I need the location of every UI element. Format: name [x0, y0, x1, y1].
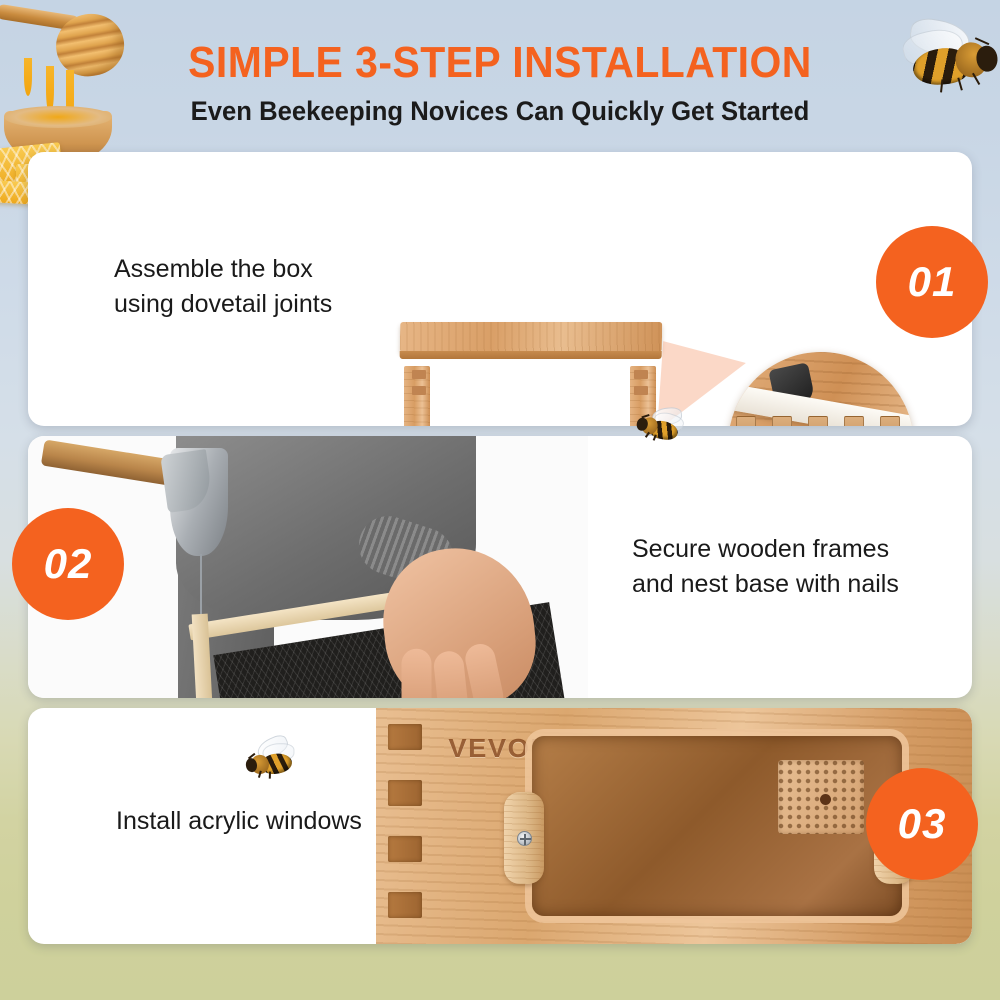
dovetail-notch	[412, 370, 426, 379]
vent-center-hole	[820, 794, 831, 805]
dovetail-finger	[808, 416, 828, 426]
hive-box-lid	[400, 322, 663, 352]
dovetail-joint-closeup	[728, 352, 914, 426]
step-2-text: Secure wooden frames and nest base with …	[632, 532, 899, 601]
step-card-3: VEVOR® Install acrylic windows	[28, 708, 972, 944]
window-latch-left	[504, 792, 544, 884]
step-1-number-badge: 01	[876, 226, 988, 338]
screw-icon	[517, 831, 532, 846]
step-1-text: Assemble the box using dovetail joints	[114, 252, 332, 321]
hive-box-left-panel	[404, 366, 430, 426]
hand-finger	[432, 650, 469, 698]
dovetail-tooth	[388, 780, 422, 806]
dovetail-tooth	[388, 836, 422, 862]
hand-finger	[463, 641, 506, 698]
dovetail-finger	[844, 416, 864, 426]
dovetail-notch	[412, 386, 426, 395]
step-3-text: Install acrylic windows	[116, 804, 362, 839]
dovetail-tooth	[388, 724, 422, 750]
page-subtitle: Even Beekeeping Novices Can Quickly Get …	[25, 96, 975, 127]
dovetail-notch	[634, 386, 648, 395]
hive-box-right-panel	[630, 366, 656, 426]
page-title: SIMPLE 3-STEP INSTALLATION	[35, 38, 965, 88]
dovetail-finger	[880, 416, 900, 426]
dovetail-finger	[772, 416, 792, 426]
step-3-number-badge: 03	[866, 768, 978, 880]
dovetail-notch	[634, 370, 648, 379]
dovetail-tooth	[388, 892, 422, 918]
step-card-2: Secure wooden frames and nest base with …	[28, 436, 972, 698]
dovetail-finger	[736, 416, 756, 426]
step-2-number-badge: 02	[12, 508, 124, 620]
page-header: SIMPLE 3-STEP INSTALLATION Even Beekeepi…	[0, 0, 1000, 140]
hand-finger	[401, 649, 431, 698]
step-card-1: Assemble the box using dovetail joints	[28, 152, 972, 426]
